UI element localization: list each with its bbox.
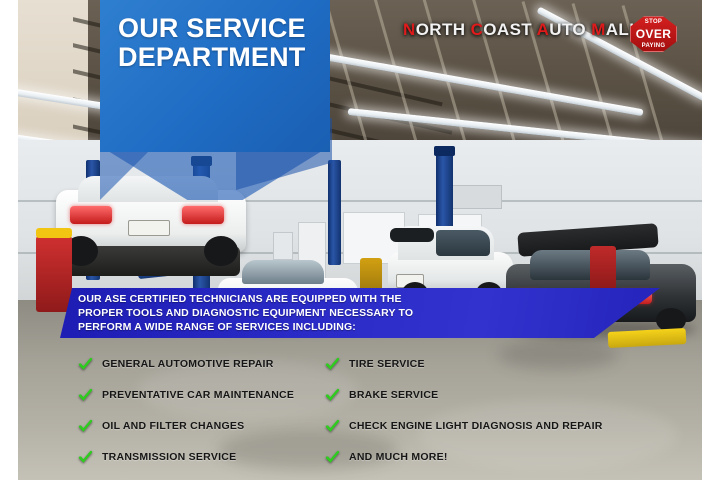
service-label: BRAKE SERVICE — [349, 389, 438, 401]
service-label: TIRE SERVICE — [349, 358, 425, 370]
service-item: BRAKE SERVICE — [325, 381, 655, 409]
stop-overpaying-badge: STOP OVER PAYING — [630, 16, 677, 52]
logo-n: N — [403, 20, 416, 39]
lift-post — [328, 160, 341, 265]
service-item: AND MUCH MORE! — [325, 443, 655, 471]
service-label: CHECK ENGINE LIGHT DIAGNOSIS AND REPAIR — [349, 420, 603, 432]
title-line-1: OUR SERVICE — [118, 14, 333, 43]
letterbox-right — [702, 0, 720, 480]
badge-line-3: PAYING — [630, 43, 677, 49]
service-item: CHECK ENGINE LIGHT DIAGNOSIS AND REPAIR — [325, 412, 655, 440]
services-column-left: GENERAL AUTOMOTIVE REPAIR PREVENTATIVE C… — [78, 350, 328, 474]
logo-a: A — [537, 20, 550, 39]
check-icon — [325, 388, 340, 403]
logo-c: C — [471, 20, 484, 39]
check-icon — [325, 357, 340, 372]
service-item: PREVENTATIVE CAR MAINTENANCE — [78, 381, 328, 409]
check-icon — [78, 357, 93, 372]
check-icon — [325, 419, 340, 434]
logo-uto: UTO — [549, 20, 586, 39]
title-line-2: DEPARTMENT — [118, 43, 333, 72]
service-item: TIRE SERVICE — [325, 350, 655, 378]
dealer-logo: NORTH COAST AUTO MALL — [403, 20, 640, 40]
tool-cart — [36, 236, 72, 312]
services-column-right: TIRE SERVICE BRAKE SERVICE CHECK ENGINE … — [325, 350, 655, 474]
letterbox-left — [0, 0, 18, 480]
badge-line-2: OVER — [630, 27, 677, 41]
check-icon — [78, 419, 93, 434]
logo-oast: OAST — [483, 20, 532, 39]
check-icon — [325, 450, 340, 465]
service-label: PREVENTATIVE CAR MAINTENANCE — [102, 389, 294, 401]
service-label: AND MUCH MORE! — [349, 451, 448, 463]
service-item: TRANSMISSION SERVICE — [78, 443, 328, 471]
service-item: OIL AND FILTER CHANGES — [78, 412, 328, 440]
page-title: OUR SERVICE DEPARTMENT — [118, 14, 333, 72]
banner-line-3: PERFORM A WIDE RANGE OF SERVICES INCLUDI… — [78, 320, 478, 334]
service-label: GENERAL AUTOMOTIVE REPAIR — [102, 358, 274, 370]
banner-line-2: PROPER TOOLS AND DIAGNOSTIC EQUIPMENT NE… — [78, 306, 478, 320]
info-banner-text: OUR ASE CERTIFIED TECHNICIANS ARE EQUIPP… — [78, 292, 478, 335]
check-icon — [78, 388, 93, 403]
banner-line-1: OUR ASE CERTIFIED TECHNICIANS ARE EQUIPP… — [78, 292, 478, 306]
service-label: OIL AND FILTER CHANGES — [102, 420, 244, 432]
service-label: TRANSMISSION SERVICE — [102, 451, 236, 463]
badge-line-1: STOP — [630, 19, 677, 25]
check-icon — [78, 450, 93, 465]
service-item: GENERAL AUTOMOTIVE REPAIR — [78, 350, 328, 378]
logo-m: M — [591, 20, 606, 39]
service-department-banner: OUR SERVICE DEPARTMENT NORTH COAST AUTO … — [0, 0, 720, 480]
logo-orth: ORTH — [416, 20, 466, 39]
